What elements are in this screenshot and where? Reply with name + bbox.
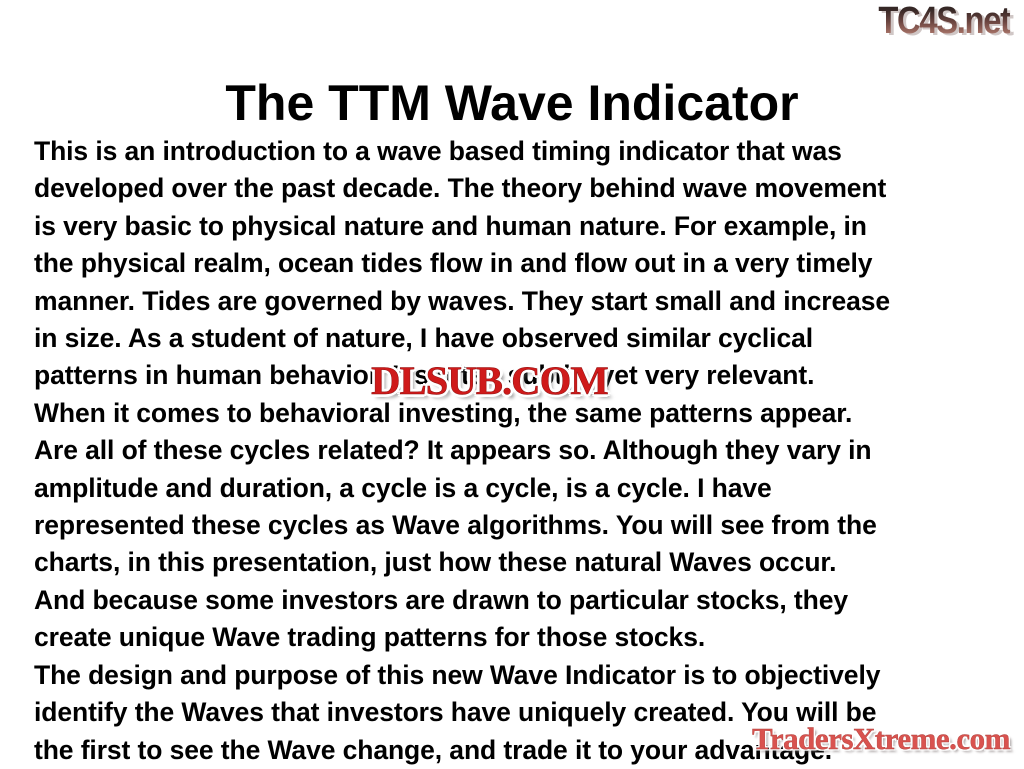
tradersxtreme-logo: TradersXtreme.com (752, 723, 1010, 754)
body-line: represented these cycles as Wave algorit… (34, 507, 994, 544)
body-line: charts, in this presentation, just how t… (34, 544, 994, 581)
body-line: And because some investors are drawn to … (34, 582, 994, 619)
body-line: amplitude and duration, a cycle is a cyc… (34, 470, 994, 507)
body-line: the physical realm, ocean tides flow in … (34, 245, 994, 282)
body-line: create unique Wave trading patterns for … (34, 619, 994, 656)
body-line: Are all of these cycles related? It appe… (34, 432, 994, 469)
body-line: manner. Tides are governed by waves. The… (34, 283, 994, 320)
body-line: The design and purpose of this new Wave … (34, 657, 994, 694)
body-line: is very basic to physical nature and hum… (34, 208, 994, 245)
body-line: in size. As a student of nature, I have … (34, 320, 994, 357)
slide-canvas: { "slide": { "title": "The TTM Wave Indi… (0, 0, 1024, 768)
tc4s-logo: TC4S.net (879, 2, 1010, 40)
dlsub-watermark: DLSUB.COM (371, 361, 608, 401)
body-line: This is an introduction to a wave based … (34, 133, 994, 170)
body-line: developed over the past decade. The theo… (34, 170, 994, 207)
body-text-block: This is an introduction to a wave based … (34, 133, 994, 769)
page-title: The TTM Wave Indicator (0, 76, 1024, 131)
